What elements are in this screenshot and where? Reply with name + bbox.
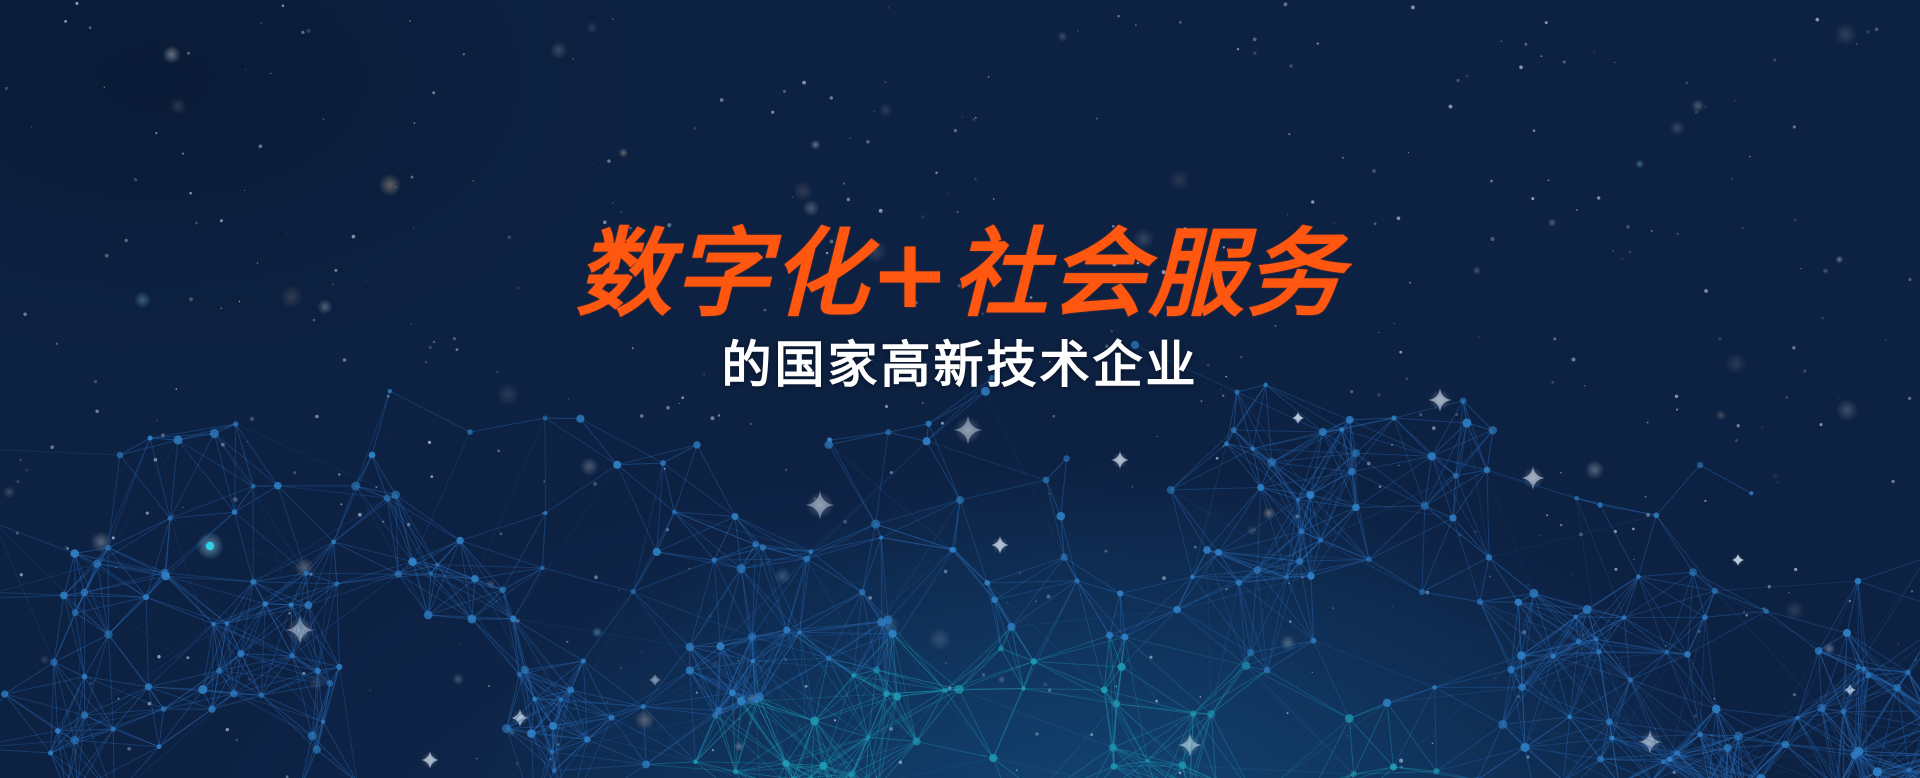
hero-banner: 数字化+社会服务 的国家高新技术企业 <box>0 0 1920 778</box>
polygon-network-mesh <box>0 0 1920 778</box>
